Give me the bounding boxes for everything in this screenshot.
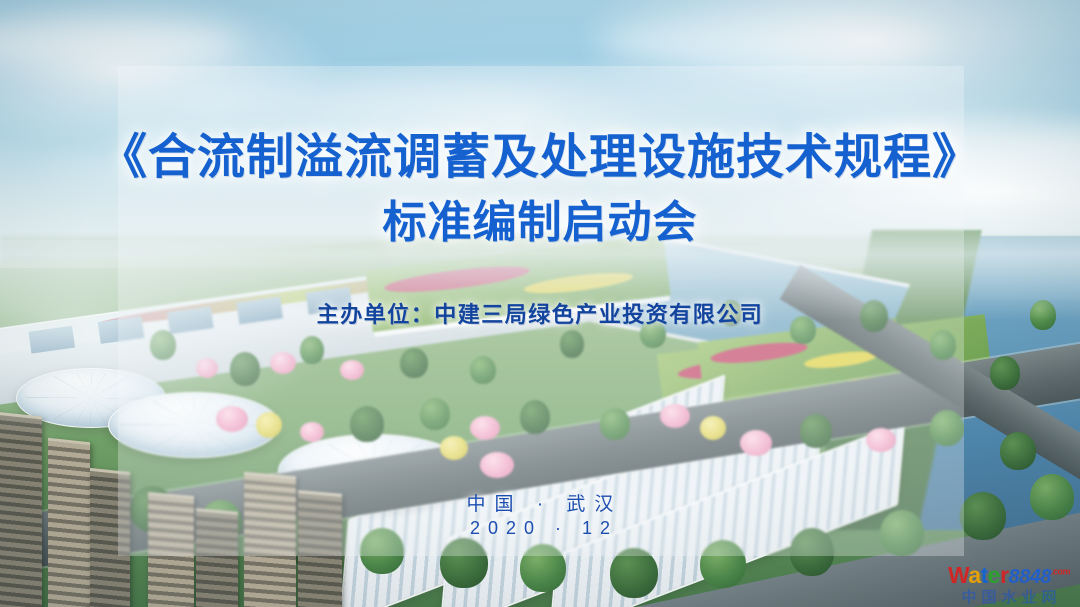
date-line: 2020 · 12	[0, 518, 1080, 539]
watermark-brand: Water8848.com	[946, 564, 1072, 587]
slide-text-layer: 《合流制溢流调蓄及处理设施技术规程》 标准编制启动会 主办单位：中建三局绿色产业…	[0, 0, 1080, 607]
location-line: 中国 · 武汉	[0, 489, 1080, 516]
watermark-tld: .com	[1051, 566, 1070, 576]
watermark-char-e: e	[988, 562, 1000, 588]
presentation-slide: 《合流制溢流调蓄及处理设施技术规程》 标准编制启动会 主办单位：中建三局绿色产业…	[0, 0, 1080, 607]
watermark-char-t: t	[981, 562, 988, 588]
site-watermark: Water8848.com 中国水业网	[946, 564, 1072, 605]
watermark-subtitle: 中国水业网	[946, 590, 1072, 605]
watermark-char-w: W	[948, 562, 968, 588]
slide-title-line-2: 标准编制启动会	[0, 186, 1080, 250]
watermark-number: 8848	[1009, 566, 1052, 588]
organizer-line: 主办单位：中建三局绿色产业投资有限公司	[0, 297, 1080, 329]
watermark-char-a: a	[968, 562, 980, 588]
slide-title-line-1: 《合流制溢流调蓄及处理设施技术规程》	[0, 117, 1080, 187]
watermark-char-r: r	[1000, 562, 1008, 588]
